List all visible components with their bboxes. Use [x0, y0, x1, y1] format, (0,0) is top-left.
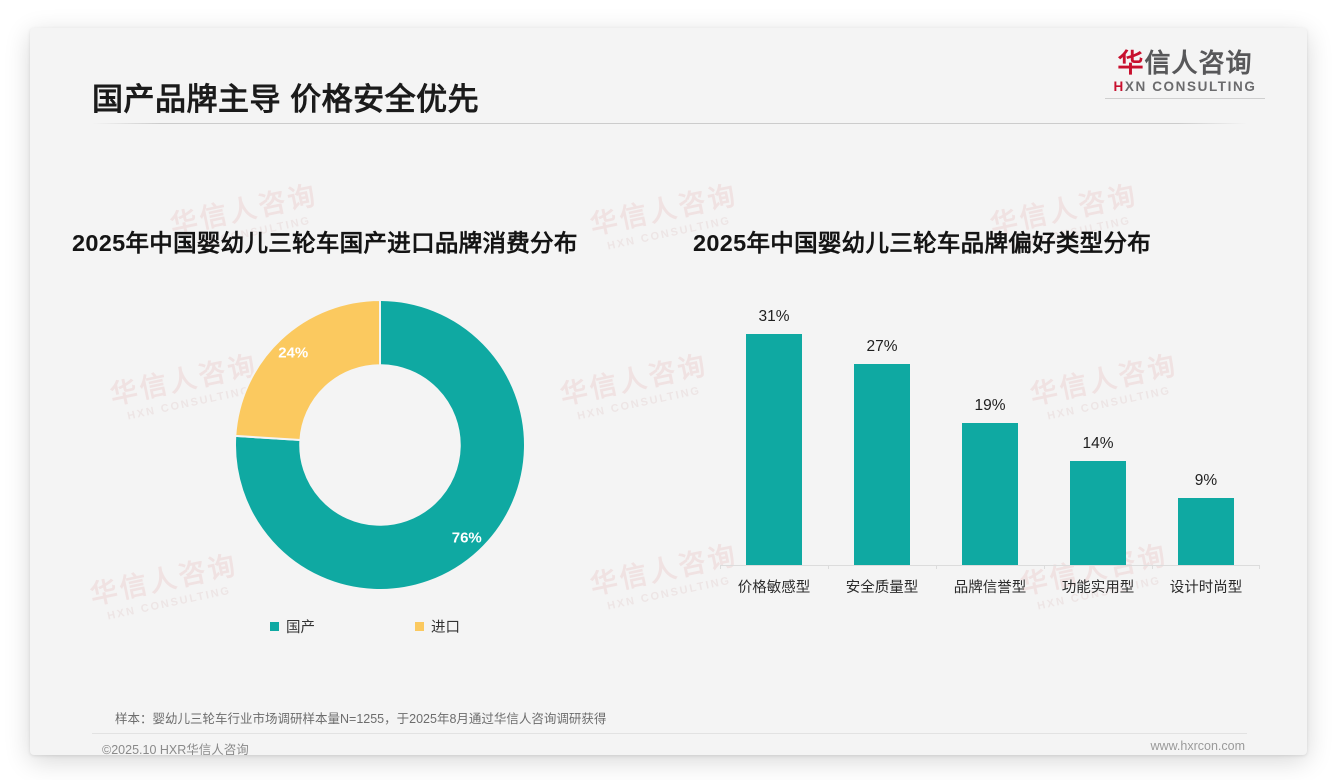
axis-tick — [936, 565, 937, 569]
legend-swatch-icon — [415, 622, 424, 631]
bar-column: 27% — [828, 304, 936, 565]
donut-slice-进口[interactable] — [235, 300, 380, 440]
bar-column: 31% — [720, 304, 828, 565]
footer-copyright: ©2025.10 HXR华信人咨询 — [102, 739, 249, 755]
logo-en-accent: H — [1114, 79, 1125, 94]
bar-安全质量型[interactable] — [854, 364, 910, 565]
legend-item-国产[interactable]: 国产 — [270, 616, 315, 637]
footnote: 样本：婴幼儿三轮车行业市场调研样本量N=1255，于2025年8月通过华信人咨询… — [115, 708, 606, 727]
bar-column: 19% — [936, 304, 1044, 565]
bar-category-价格敏感型: 价格敏感型 — [720, 576, 828, 597]
bar-plot-area: 31%27%19%14%9% — [720, 304, 1260, 565]
bar-value-label: 31% — [720, 308, 828, 326]
left-chart-title: 2025年中国婴幼儿三轮车国产进口品牌消费分布 — [72, 224, 578, 258]
legend-item-进口[interactable]: 进口 — [415, 616, 460, 637]
bar-功能实用型[interactable] — [1070, 461, 1126, 565]
bar-品牌信誉型[interactable] — [962, 423, 1018, 565]
slide-footer: ©2025.10 HXR华信人咨询 www.hxrcon.com — [30, 734, 1307, 755]
page-title: 国产品牌主导 价格安全优先 — [92, 74, 479, 119]
brand-logo: 华信人咨询 HXN CONSULTING — [1101, 50, 1269, 99]
bar-axis-line — [720, 565, 1260, 566]
watermark-cn: 华信人咨询 — [586, 533, 741, 602]
logo-accent-char: 华 — [1117, 48, 1144, 78]
logo-rest-chars: 信人咨询 — [1145, 48, 1253, 78]
bar-value-label: 27% — [828, 338, 936, 356]
bar-设计时尚型[interactable] — [1178, 498, 1234, 565]
legend-swatch-icon — [270, 622, 279, 631]
axis-tick — [1044, 565, 1045, 569]
legend-label: 进口 — [431, 616, 460, 637]
donut-slices — [235, 300, 525, 590]
bar-category-功能实用型: 功能实用型 — [1044, 576, 1152, 597]
legend-label: 国产 — [286, 616, 315, 637]
bar-value-label: 9% — [1152, 472, 1260, 490]
slide-card: 华信人咨询 HXN CONSULTING 华信人咨询 HXN CONSULTIN… — [30, 28, 1307, 755]
watermark: 华信人咨询 HXN CONSULTING — [86, 543, 244, 625]
axis-tick — [1259, 565, 1260, 569]
donut-chart: 76%24% — [235, 300, 525, 590]
bar-column: 14% — [1044, 304, 1152, 565]
donut-chart-svg: 76%24% — [235, 300, 525, 590]
watermark-cn: 华信人咨询 — [86, 543, 241, 612]
logo-chinese-text: 华信人咨询 — [1101, 50, 1269, 77]
bar-chart: 31%27%19%14%9% 价格敏感型安全质量型品牌信誉型功能实用型设计时尚型 — [720, 304, 1260, 604]
logo-en-rest: XN CONSULTING — [1125, 79, 1257, 94]
watermark-en: HXN CONSULTING — [95, 582, 244, 625]
watermark-cn: 华信人咨询 — [556, 343, 711, 412]
logo-underline — [1105, 98, 1265, 99]
bar-category-设计时尚型: 设计时尚型 — [1152, 576, 1260, 597]
axis-tick — [1152, 565, 1153, 569]
axis-tick — [828, 565, 829, 569]
header-divider — [92, 123, 1247, 124]
logo-english-text: HXN CONSULTING — [1101, 79, 1269, 94]
axis-tick — [720, 565, 721, 569]
slide-header: 国产品牌主导 价格安全优先 华信人咨询 HXN CONSULTING — [30, 28, 1307, 123]
watermark: 华信人咨询 HXN CONSULTING — [556, 343, 714, 425]
bar-value-label: 14% — [1044, 435, 1152, 453]
footer-url[interactable]: www.hxrcon.com — [1151, 739, 1245, 753]
bar-category-品牌信誉型: 品牌信誉型 — [936, 576, 1044, 597]
donut-label-进口: 24% — [278, 345, 308, 362]
bar-column: 9% — [1152, 304, 1260, 565]
bar-category-安全质量型: 安全质量型 — [828, 576, 936, 597]
right-chart-title: 2025年中国婴幼儿三轮车品牌偏好类型分布 — [693, 224, 1151, 258]
bar-value-label: 19% — [936, 397, 1044, 415]
bar-价格敏感型[interactable] — [746, 334, 802, 565]
donut-legend: 国产进口 — [270, 616, 560, 637]
donut-label-国产: 76% — [452, 529, 482, 546]
watermark-en: HXN CONSULTING — [565, 382, 714, 425]
